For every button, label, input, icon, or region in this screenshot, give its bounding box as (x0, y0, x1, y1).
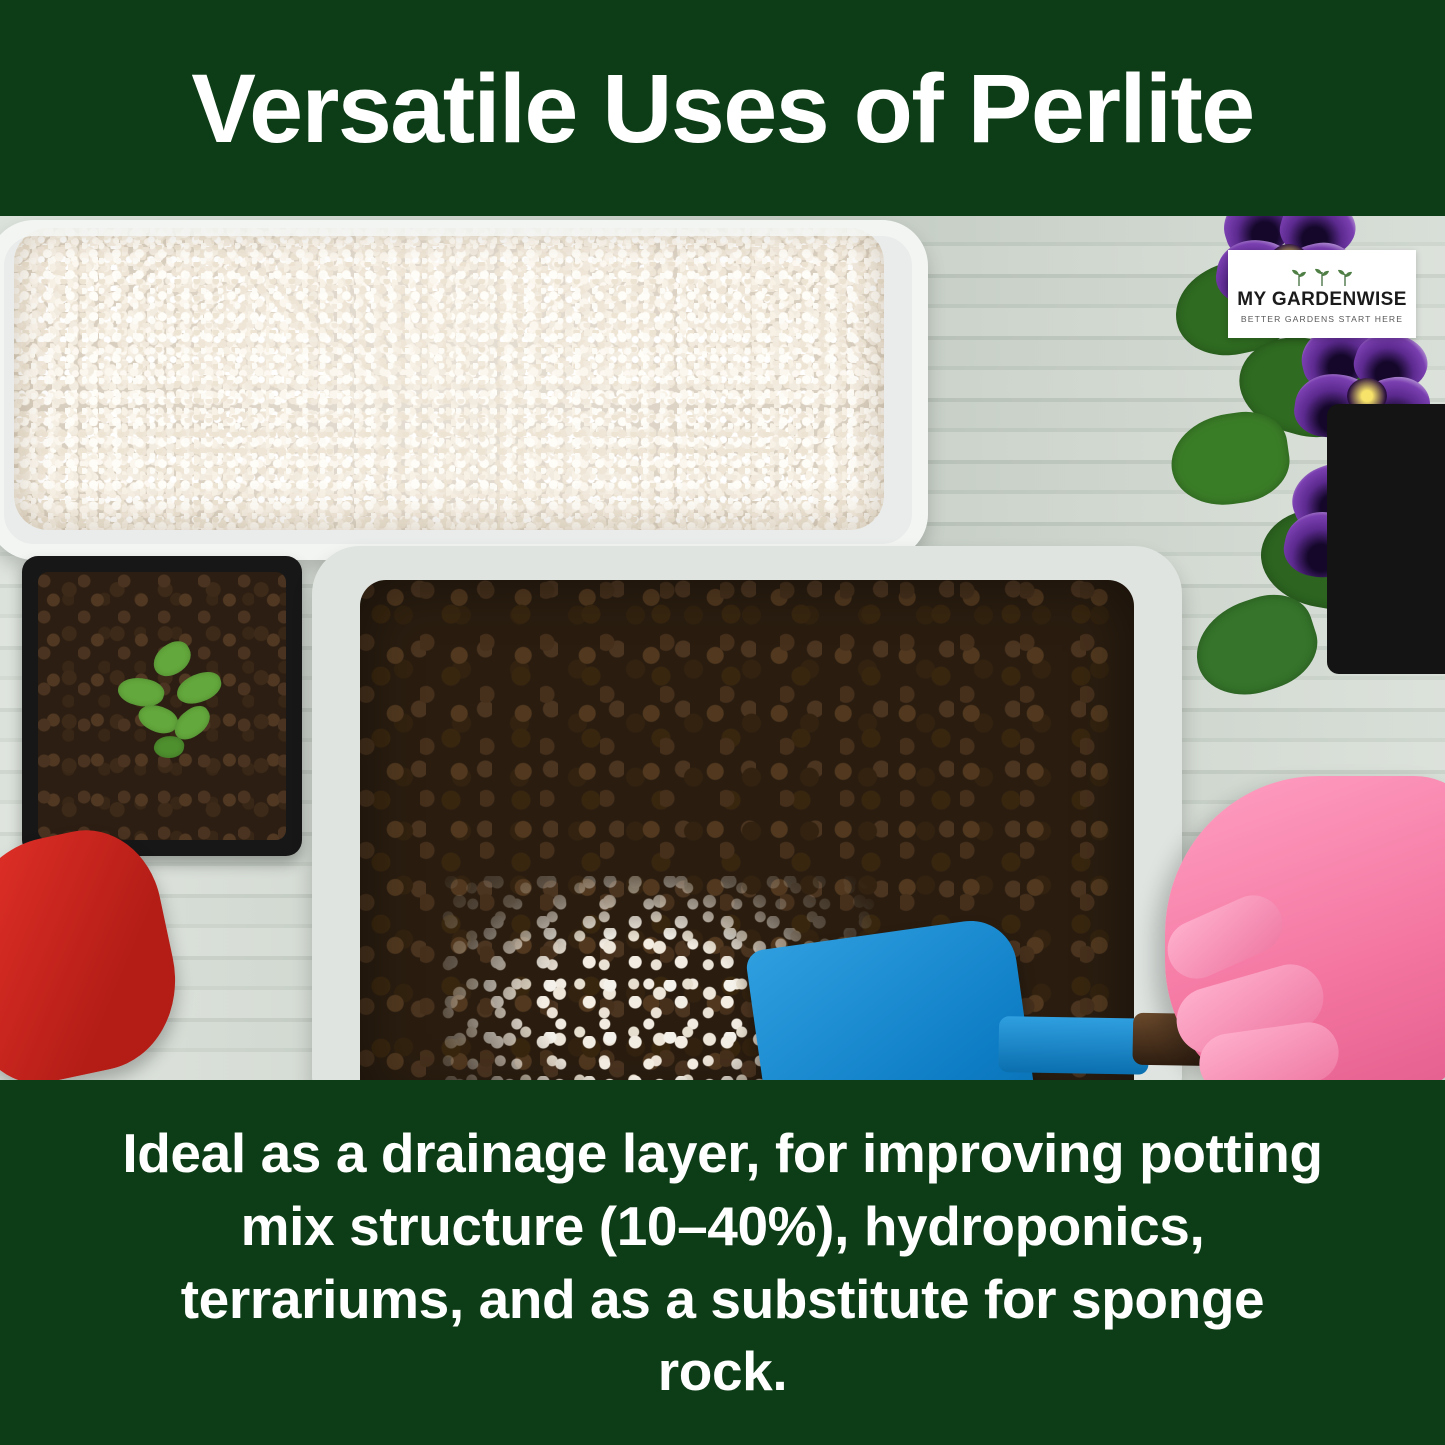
perlite-tray-rim (0, 220, 928, 560)
caption-text: Ideal as a drainage layer, for improving… (118, 1117, 1328, 1407)
photo-area: MY GARDENWISE BETTER GARDENS START HERE (0, 216, 1445, 1080)
seedling-pot (22, 556, 302, 856)
page-title: Versatile Uses of Perlite (191, 60, 1253, 157)
brand-tagline: BETTER GARDENS START HERE (1241, 314, 1403, 324)
brand-logo-badge: MY GARDENWISE BETTER GARDENS START HERE (1228, 250, 1416, 338)
perlite-infographic: Versatile Uses of Perlite (0, 0, 1445, 1445)
brand-name: MY GARDENWISE (1237, 289, 1407, 311)
seedling-sprig-icon (1290, 264, 1354, 286)
header-band: Versatile Uses of Perlite (0, 0, 1445, 216)
caption-band: Ideal as a drainage layer, for improving… (0, 1080, 1445, 1445)
seedling-plant-icon (118, 644, 238, 774)
pansy-nursery-pot (1327, 404, 1445, 674)
trowel-shaft (998, 1016, 1149, 1075)
perlite-tray (0, 220, 928, 560)
